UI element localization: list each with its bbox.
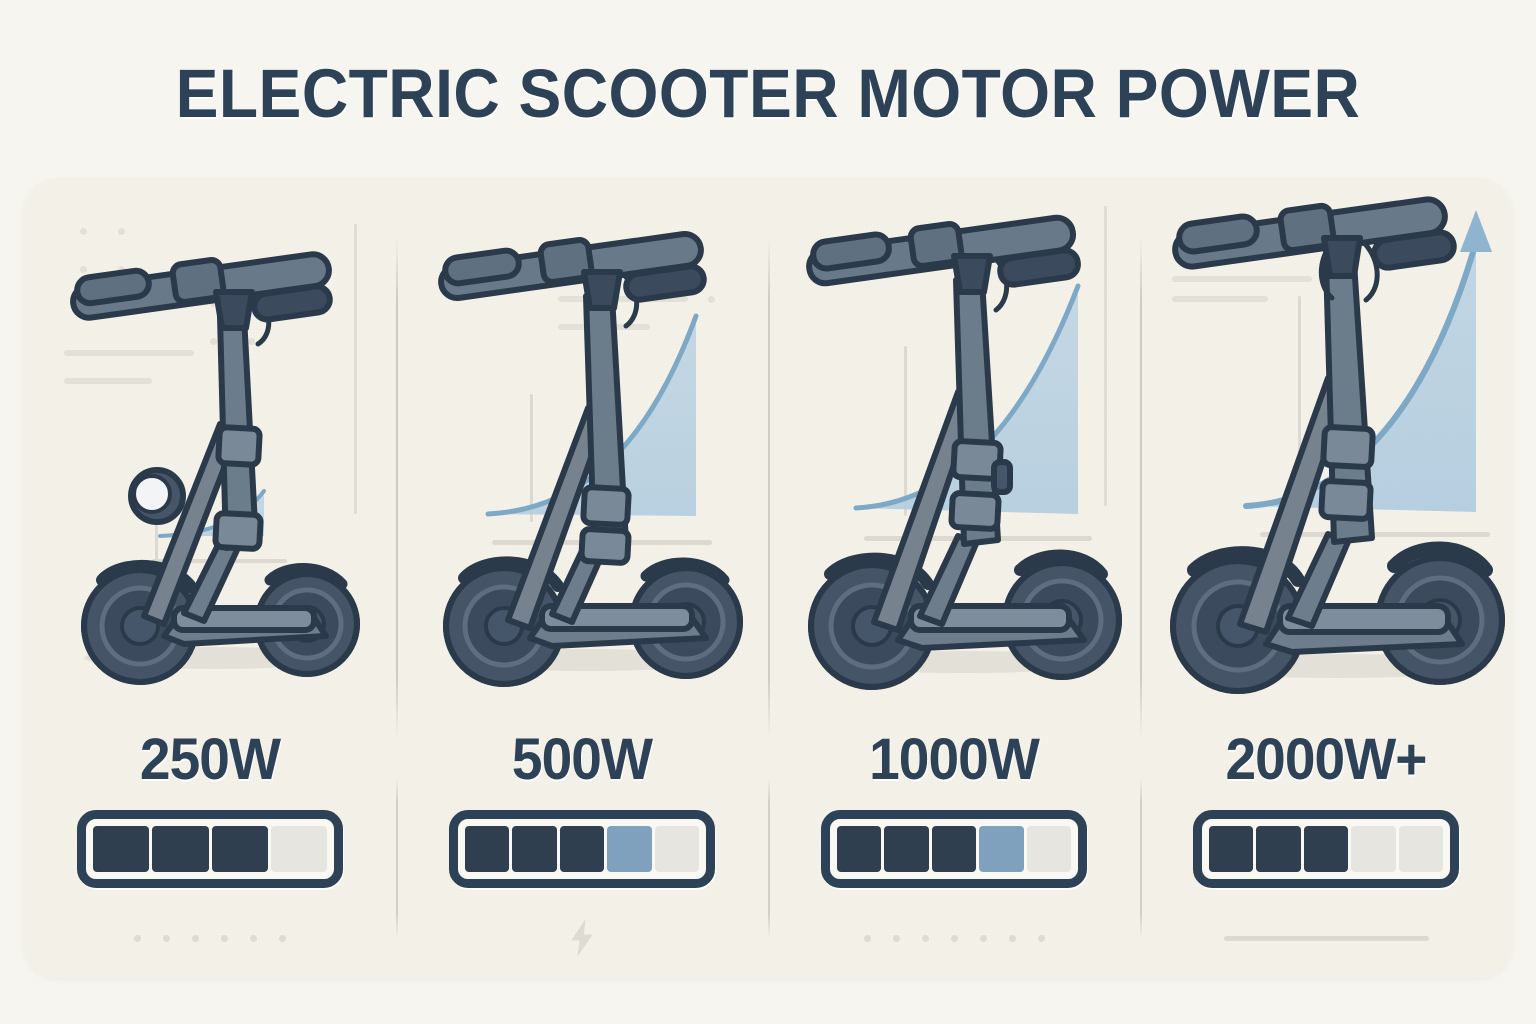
panel-2000w[interactable]: 2000W+ [1140, 178, 1512, 978]
battery-pack [994, 462, 1010, 492]
meter-segment [607, 826, 651, 872]
footer-dot [192, 935, 199, 942]
stem [951, 280, 1010, 544]
scooter-illustration-250w [24, 196, 396, 716]
footer-dot [893, 935, 900, 942]
meter-segment [655, 826, 699, 872]
meter-segment [837, 826, 881, 872]
wattage-label-2000w: 2000W+ [1149, 726, 1502, 793]
meter-segment [271, 826, 327, 872]
meter-segment [1399, 826, 1443, 872]
stem [215, 316, 261, 549]
power-meter-1000w[interactable] [821, 810, 1087, 888]
meter-segment [1304, 826, 1348, 872]
footer-dot [1009, 935, 1016, 942]
headlight [131, 470, 183, 522]
meter-segment [1027, 826, 1071, 872]
panel-footer-500w [396, 918, 768, 958]
meter-segment [465, 826, 509, 872]
meter-segment [1256, 826, 1300, 872]
panel-footer-250w [24, 918, 396, 958]
panel-footer-1000w [768, 918, 1140, 958]
meter-segment [93, 826, 149, 872]
content-card: 250W [24, 178, 1512, 978]
stem [1321, 262, 1373, 542]
power-meter-2000w[interactable] [1193, 810, 1459, 888]
footer-dot [279, 935, 286, 942]
footer-dot [250, 935, 257, 942]
wattage-label-1000w: 1000W [777, 726, 1130, 793]
meter-segment [1351, 826, 1395, 872]
arrow-head-icon [1460, 210, 1492, 252]
handlebar [1173, 197, 1456, 276]
scooter-illustration-1000w [768, 196, 1140, 716]
lightning-bolt-icon [567, 919, 597, 957]
footer-dot [922, 935, 929, 942]
panel-footer-2000w [1140, 918, 1512, 958]
power-meter-250w[interactable] [77, 810, 343, 888]
page-title: Electric Scooter Motor Power [54, 54, 1482, 133]
meter-segment [932, 826, 976, 872]
footer-dots [134, 935, 286, 942]
meter-segment [152, 826, 208, 872]
panel-250w[interactable]: 250W [24, 178, 396, 978]
footer-dot [980, 935, 987, 942]
wattage-label-250w: 250W [33, 726, 386, 793]
handlebar [71, 252, 331, 328]
footer-dot [134, 935, 141, 942]
footer-dot [864, 935, 871, 942]
infographic-root: Electric Scooter Motor Power [0, 0, 1536, 1024]
tier-panels: 250W [24, 178, 1512, 978]
scooter-illustration-500w [396, 196, 768, 716]
footer-dot [221, 935, 228, 942]
scooter-illustration-2000w [1140, 196, 1512, 716]
stem [581, 296, 629, 563]
panel-500w[interactable]: 500W [396, 178, 768, 978]
handlebar [439, 232, 705, 308]
footer-dot [163, 935, 170, 942]
panel-1000w[interactable]: 1000W [768, 178, 1140, 978]
meter-segment [212, 826, 268, 872]
meter-segment [979, 826, 1023, 872]
meter-segment [512, 826, 556, 872]
handlebar [807, 216, 1080, 292]
footer-dot [1038, 935, 1045, 942]
meter-segment [1209, 826, 1253, 872]
wattage-label-500w: 500W [405, 726, 758, 793]
meter-segment [560, 826, 604, 872]
footer-line [1224, 936, 1429, 941]
footer-dot [951, 935, 958, 942]
footer-dots [864, 935, 1045, 942]
power-meter-500w[interactable] [449, 810, 715, 888]
meter-segment [884, 826, 928, 872]
